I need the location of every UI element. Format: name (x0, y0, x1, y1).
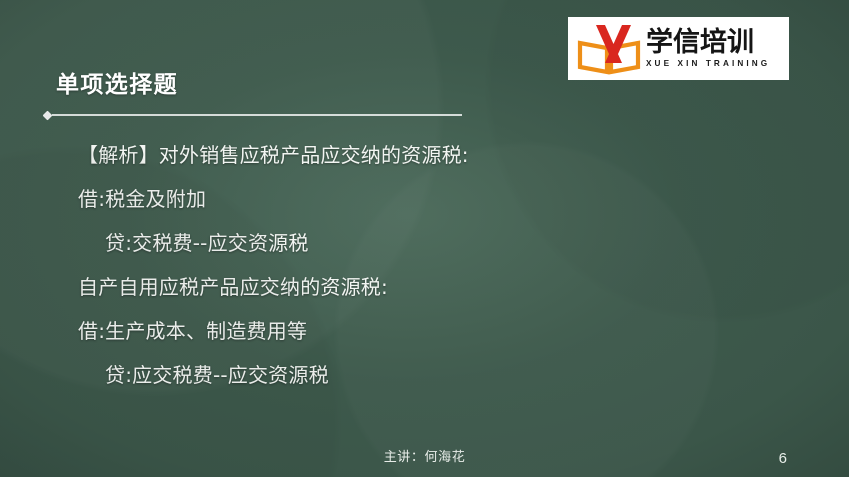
logo-wordmark: 学信培训 XUE XIN TRAINING (646, 29, 770, 68)
page-title: 单项选择题 (56, 74, 178, 97)
divider-diamond-icon (43, 110, 53, 120)
body-content: 【解析】对外销售应税产品应交纳的资源税: 借:税金及附加 贷:交税费--应交资源… (78, 133, 778, 397)
body-line: 贷:应交税费--应交资源税 (78, 353, 778, 397)
body-line: 自产自用应税产品应交纳的资源税: (78, 265, 778, 309)
slide-canvas: 学信培训 XUE XIN TRAINING 单项选择题 【解析】对外销售应税产品… (0, 0, 849, 477)
footer-author: 主讲：何海花 (0, 446, 849, 465)
page-number: 6 (779, 450, 787, 467)
logo-name-en: XUE XIN TRAINING (646, 59, 770, 68)
divider-rule (52, 114, 462, 116)
title-divider (44, 110, 462, 120)
brand-logo: 学信培训 XUE XIN TRAINING (568, 17, 789, 80)
body-line: 借:税金及附加 (78, 177, 778, 221)
body-line: 贷:交税费--应交资源税 (78, 221, 778, 265)
open-book-x-logo-icon (576, 23, 642, 75)
logo-name-cn: 学信培训 (646, 29, 770, 57)
body-line: 借:生产成本、制造费用等 (78, 309, 778, 353)
body-line: 【解析】对外销售应税产品应交纳的资源税: (78, 133, 778, 177)
